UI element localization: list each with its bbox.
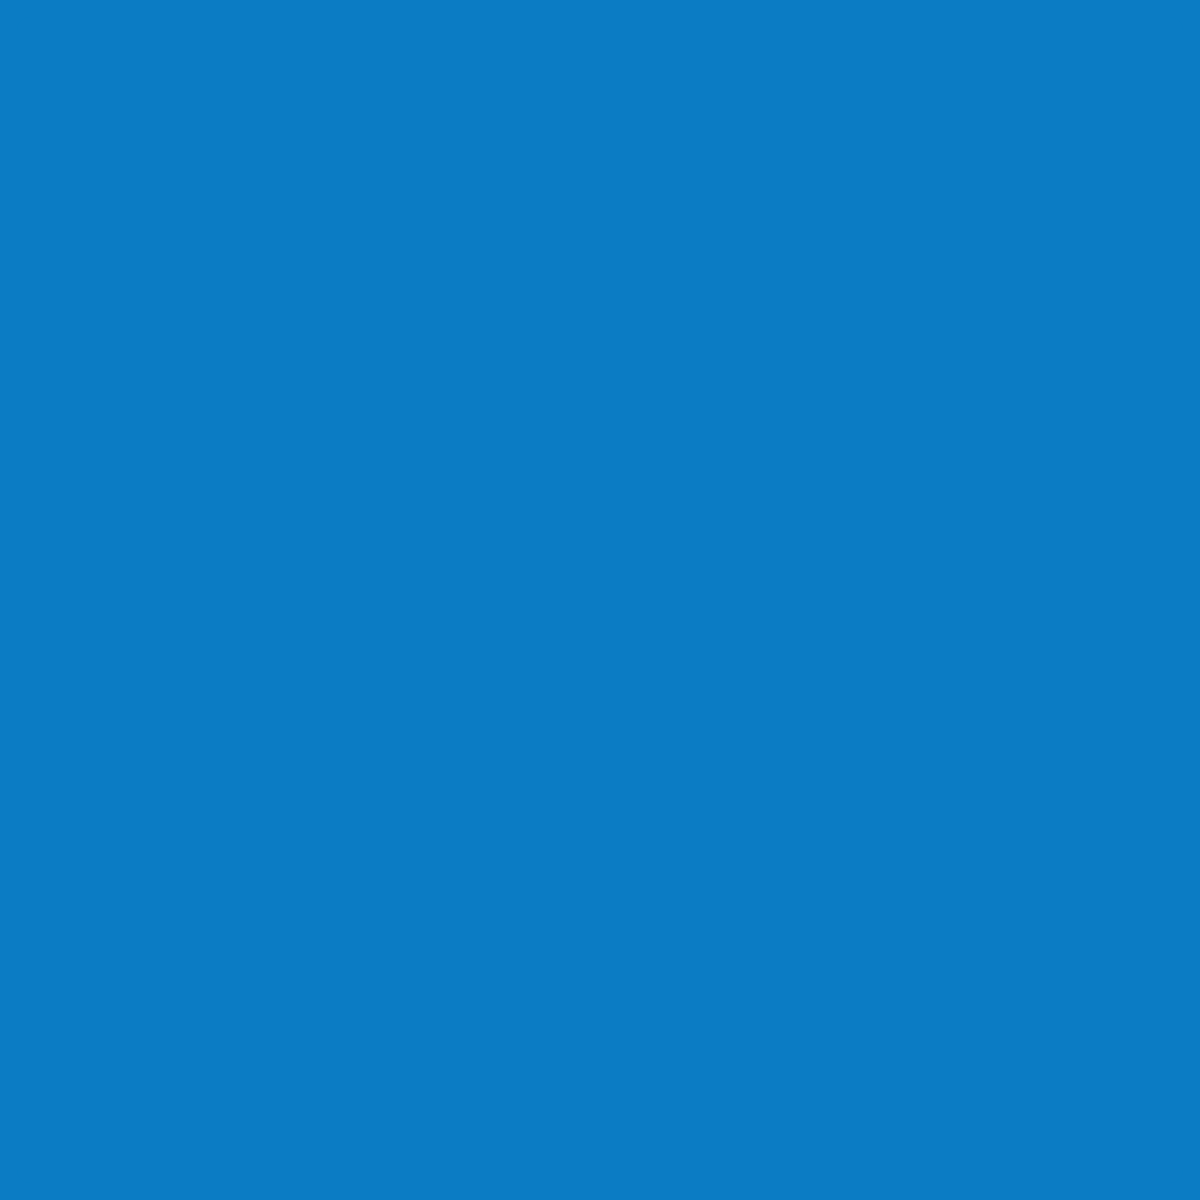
product-marketing-image: Contains patented Piezo-chip technology … (0, 0, 1200, 1200)
headline-line-3: to create ultrasound waves. (82, 1057, 882, 1137)
image-stage: Contains patented Piezo-chip technology … (17, 17, 1183, 1183)
headline-line-1: Contains patented (82, 897, 882, 977)
headline-block: Contains patented Piezo-chip technology … (82, 897, 1082, 1137)
headline-line-2: Piezo-chip technology (82, 977, 882, 1057)
callout-dot (305, 844, 341, 880)
